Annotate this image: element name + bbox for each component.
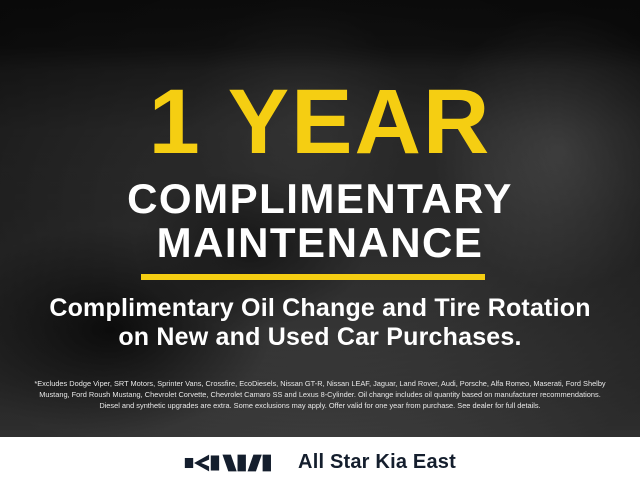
subhead-complimentary: COMPLIMENTARY: [0, 178, 640, 220]
headline-1-year: 1 YEAR: [0, 76, 640, 168]
disclaimer-line-1: *Excludes Dodge Viper, SRT Motors, Sprin…: [14, 378, 626, 389]
kia-wordmark-logo: [184, 452, 276, 474]
dealer-name-label: All Star Kia East: [298, 451, 456, 474]
offer-text-line-2: on New and Used Car Purchases.: [0, 323, 640, 352]
disclaimer-fine-print: *Excludes Dodge Viper, SRT Motors, Sprin…: [14, 378, 626, 411]
promo-advertisement: 1 YEAR COMPLIMENTARY MAINTENANCE Complim…: [0, 0, 640, 488]
hero-content: 1 YEAR COMPLIMENTARY MAINTENANCE Complim…: [0, 0, 640, 437]
subhead-maintenance: MAINTENANCE: [0, 222, 640, 264]
offer-text-line-1: Complimentary Oil Change and Tire Rotati…: [0, 294, 640, 323]
disclaimer-line-2: Mustang, Ford Roush Mustang, Chevrolet C…: [14, 389, 626, 400]
hero-banner: 1 YEAR COMPLIMENTARY MAINTENANCE Complim…: [0, 0, 640, 437]
disclaimer-line-3: Diesel and synthetic upgrades are extra.…: [14, 400, 626, 411]
dealer-footer-bar: All Star Kia East: [0, 437, 640, 488]
yellow-divider-bar: [141, 274, 485, 280]
